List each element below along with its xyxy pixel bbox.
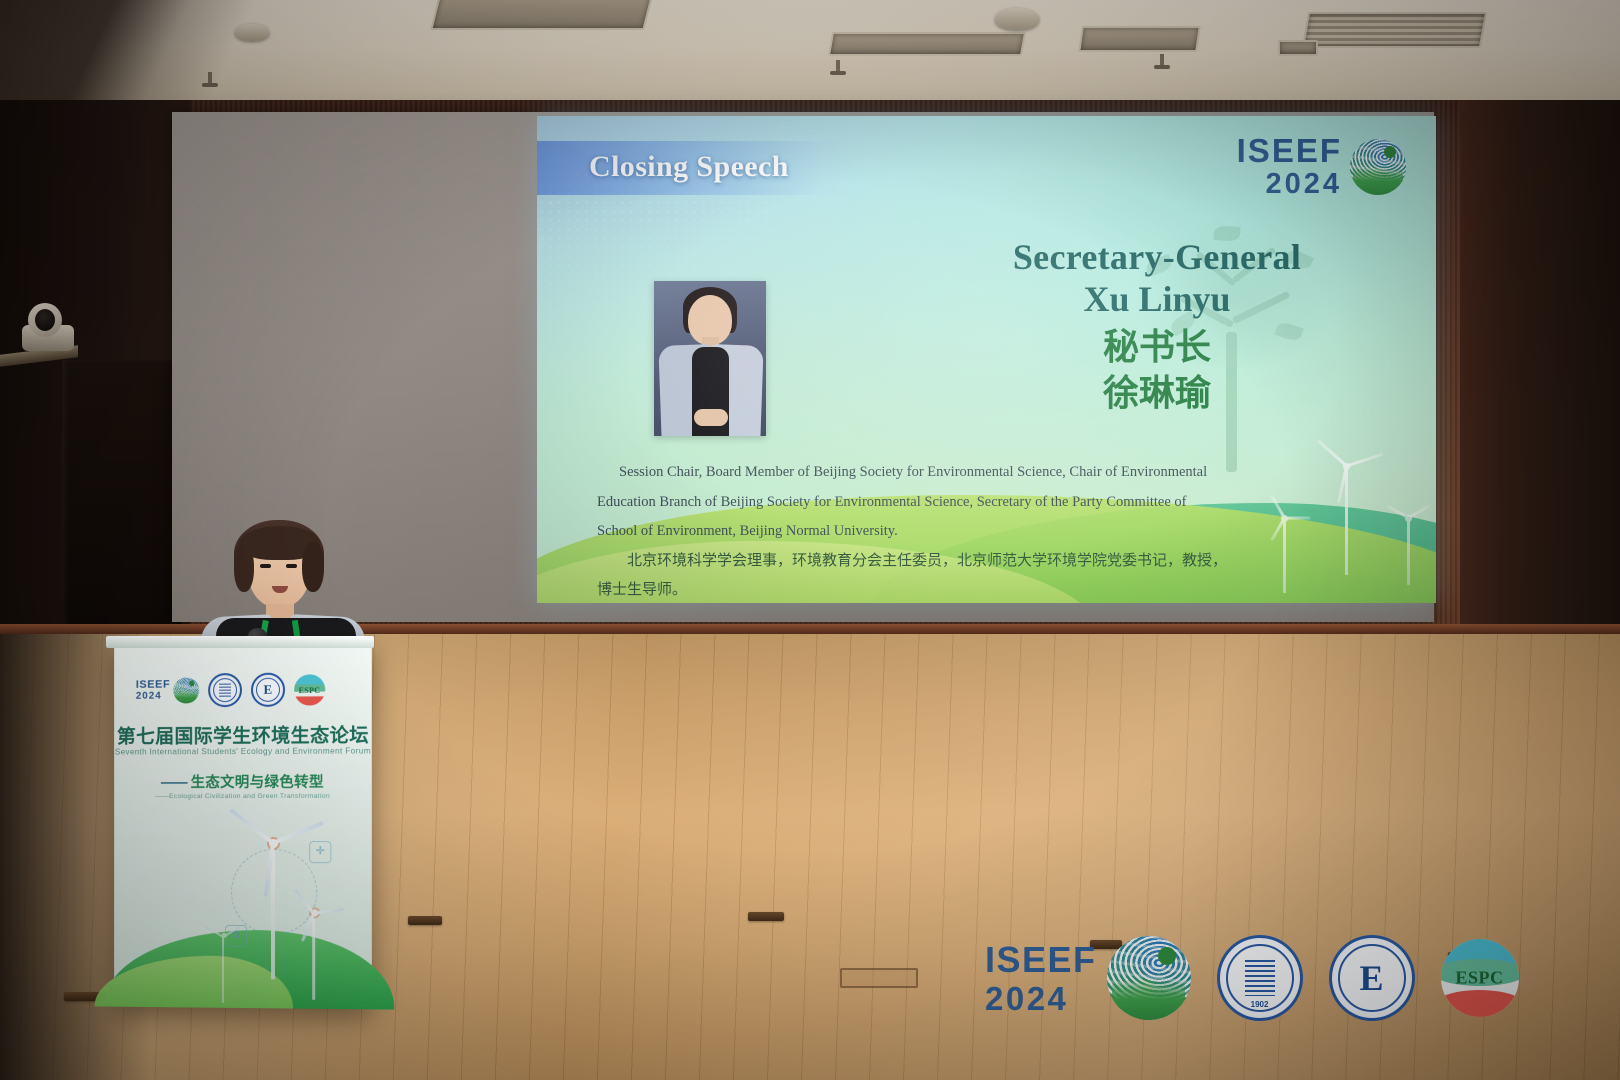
espc-icon: ESPC [1441,939,1519,1017]
floor-outlet-plate [748,912,784,921]
wind-turbine-graphic [1388,515,1428,585]
podium-iseef-logo: ISEEF 2024 [136,677,199,703]
podium-top-surface [106,636,374,648]
bio-line-cn: 北京环境科学学会理事，环境教育分会主任委员，北京师范大学环境学院党委书记，教授， [597,547,1387,576]
speaker-role-en: Secretary-General [897,236,1417,278]
podium-title-cn: 第七届国际学生环境生态论坛 [114,720,372,748]
espc-wordmark: ESPC [1441,968,1519,989]
slide-header-label: Closing Speech [589,150,789,184]
bnu-tower-seal-icon: 1902 [1217,935,1303,1021]
iseef-wordmark: ISEEF [1237,134,1342,167]
speaker-name-block: Secretary-General Xu Linyu 秘书长 徐琳瑜 [897,236,1417,416]
podium-front-panel: ✛ ✿ ISEEF 2024 [114,642,372,1010]
subtitle-cn-text: 生态文明与绿色转型 [191,775,324,791]
recessed-light [828,32,1026,56]
air-vent [1302,12,1487,48]
bio-line-en: Education Branch of Beijing Society for … [597,488,1387,518]
camera-lens-icon [35,309,55,331]
sprinkler [836,60,840,74]
iseef-wordmark: ISEEF [136,679,170,691]
globe-icon [173,677,199,703]
bnu-year: 1902 [1220,1000,1300,1009]
floor-outlet-plate [408,916,442,925]
wind-turbine-graphic [295,909,333,1000]
bio-line-cn: 博士生导师。 [597,576,1387,603]
iseef-wordmark: ISEEF [985,942,1097,978]
recessed-light [1078,26,1201,52]
floor-brand-strip: ISEEF 2024 1902 E ESPC [985,935,1545,1021]
espc-icon: ESPC [294,674,325,705]
iseef-year: 2024 [1237,170,1342,199]
speaker-role-cn: 秘书长 [897,324,1417,371]
subtitle-dash: —— [161,775,186,791]
wind-turbine-graphic [211,933,237,1003]
sprinkler [1160,54,1164,68]
podium-subtitle-cn: ——生态文明与绿色转型 [114,771,372,793]
globe-icon [1350,139,1406,195]
slide-header-band: Closing Speech [537,141,857,195]
bio-line-en: Session Chair, Board Member of Beijing S… [597,458,1387,488]
podium-title-en: Seventh International Students' Ecology … [114,746,372,756]
conference-hall-photo: Closing Speech ISEEF 2024 Secretary-Gene… [0,0,1620,1080]
speaker-bio: Session Chair, Board Member of Beijing S… [597,458,1387,603]
ptz-camera [22,303,74,351]
speaker-portrait [654,281,766,436]
bio-line-en: School of Environment, Beijing Normal Un… [597,517,1387,547]
bnu-e-seal-icon: E [1329,935,1415,1021]
iseef-year: 2024 [985,982,1097,1015]
slide-iseef-logo: ISEEF 2024 [1237,134,1406,199]
podium-logo-row: ISEEF 2024 E ESPC [136,672,350,708]
smoke-detector [995,8,1039,30]
speaker-name-en: Xu Linyu [897,278,1417,322]
presentation-slide: Closing Speech ISEEF 2024 Secretary-Gene… [537,116,1436,603]
bnu-e-seal-icon: E [251,673,285,707]
right-wall [1460,100,1620,660]
iseef-year: 2024 [136,691,170,702]
floor-iseef-logo: ISEEF 2024 [985,936,1191,1020]
floor-hatch [840,968,918,988]
speaker-name-cn: 徐琳瑜 [897,371,1417,416]
air-vent [1278,40,1318,56]
globe-icon [1107,936,1191,1020]
wind-turbine-graphic [245,839,301,980]
side-door [62,360,182,660]
recessed-light [430,0,653,30]
bnu-tower-seal-icon [208,673,242,707]
plus-circle-icon: ✛ [309,841,331,863]
podium-subtitle-en: ——Ecological Civilization and Green Tran… [114,793,372,800]
bnu-e-glyph: E [1360,957,1384,999]
